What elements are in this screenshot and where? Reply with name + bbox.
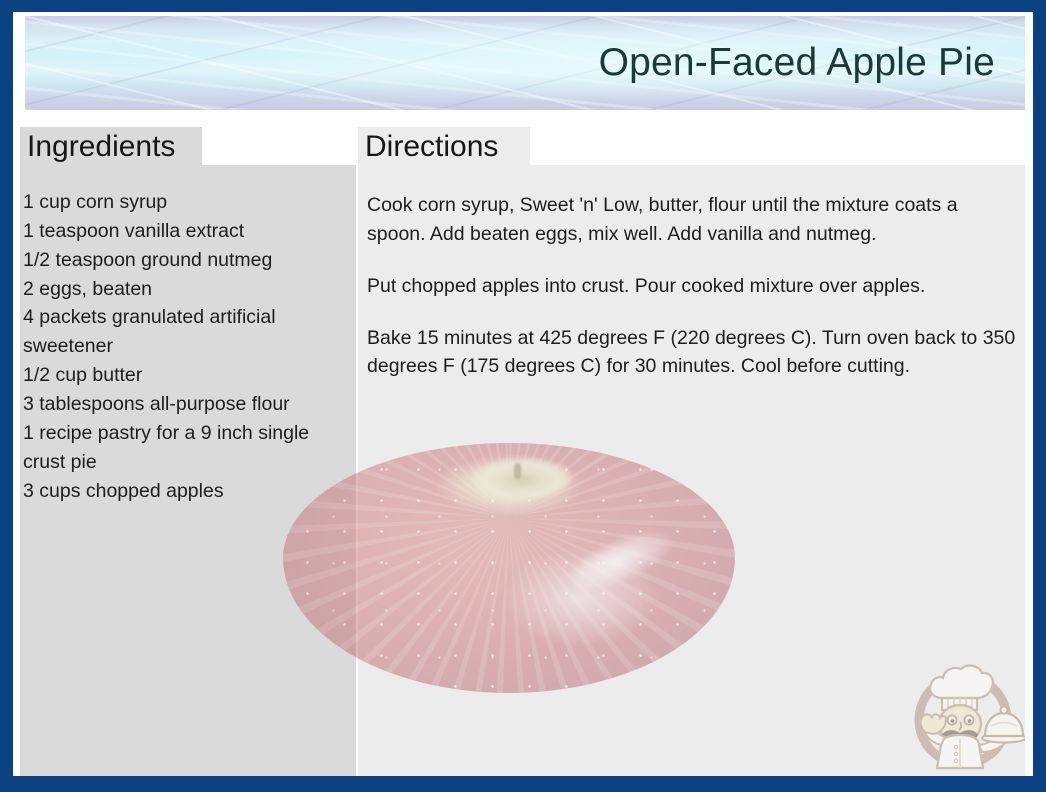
slide-border-bottom [0,776,1046,792]
list-item: 1 cup corn syrup [23,188,353,217]
list-item: 3 tablespoons all-purpose flour [23,390,353,419]
page-title: Open-Faced Apple Pie [599,41,995,85]
list-item: 4 packets granulated artificial sweetene… [23,303,353,361]
list-item: 1 teaspoon vanilla extract [23,217,353,246]
directions-heading: Directions [358,127,530,166]
title-banner: Open-Faced Apple Pie [25,16,1025,110]
direction-step: Cook corn syrup, Sweet 'n' Low, butter, … [367,191,1019,249]
ingredients-heading: Ingredients [20,127,202,166]
ingredients-list: 1 cup corn syrup 1 teaspoon vanilla extr… [23,188,353,505]
chef-logo-icon [903,646,1025,772]
list-item: 1 recipe pastry for a 9 inch single crus… [23,419,353,477]
slide-border-right [1033,0,1046,792]
slide-border-left [0,0,13,792]
list-item: 1/2 cup butter [23,361,353,390]
direction-step: Bake 15 minutes at 425 degrees F (220 de… [367,324,1019,382]
recipe-slide: Open-Faced Apple Pie Ingredients Directi… [0,0,1046,792]
list-item: 3 cups chopped apples [23,477,353,506]
direction-step: Put chopped apples into crust. Pour cook… [367,272,1019,301]
list-item: 1/2 teaspoon ground nutmeg [23,246,353,275]
list-item: 2 eggs, beaten [23,275,353,304]
directions-text: Cook corn syrup, Sweet 'n' Low, butter, … [367,191,1019,381]
slide-border-top [0,0,1046,12]
